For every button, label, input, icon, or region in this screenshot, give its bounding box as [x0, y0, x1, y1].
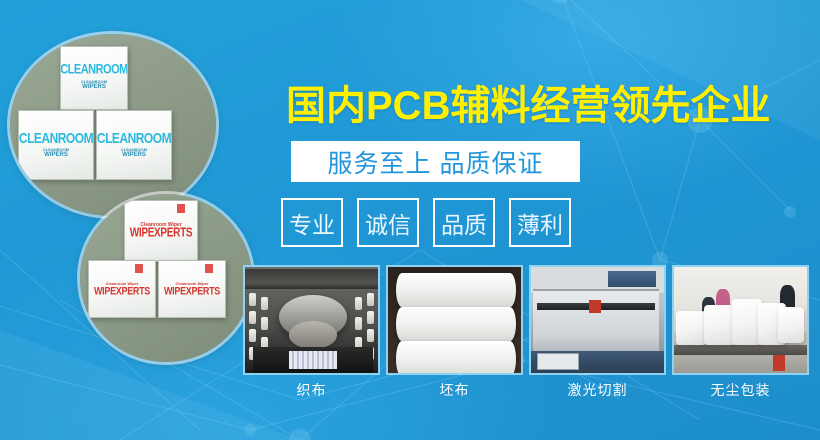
- keyword-box-integrity[interactable]: 诚信: [357, 198, 419, 247]
- pack-brand-label: WIPEXPERTS: [130, 228, 193, 241]
- keyword-label: 薄利: [517, 206, 563, 240]
- knitting-drum-inner: [289, 321, 337, 349]
- banner-subheadline-box: 服务至上 品质保证: [291, 141, 580, 182]
- photo-caption: 织布: [243, 380, 380, 400]
- fabric-roll: [396, 341, 516, 375]
- pack-subline-2: WIPERS: [82, 84, 106, 91]
- keyword-label: 专业: [289, 206, 335, 240]
- pack-brand-label: CLEANROOM: [97, 130, 171, 145]
- fabric-roll: [396, 307, 516, 341]
- pack-brand-label: WIPEXPERTS: [164, 286, 220, 297]
- packed-bale: [778, 307, 804, 343]
- packed-bale: [676, 311, 706, 345]
- product-photo-wipexperts: Cleanroom Wiper WIPEXPERTS Cleanroom Wip…: [80, 194, 252, 362]
- process-photo-item[interactable]: 织布: [243, 265, 380, 400]
- red-stamp-icon: [177, 204, 185, 213]
- keyword-box-professional[interactable]: 专业: [281, 198, 343, 247]
- red-stamp-icon: [205, 264, 213, 273]
- keyword-label: 品质: [441, 206, 487, 240]
- keyword-label: 诚信: [365, 206, 411, 240]
- keyword-box-list: 专业 诚信 品质 薄利: [281, 198, 571, 247]
- fabric-roll: [396, 273, 516, 307]
- pack-subline-2: WIPERS: [44, 152, 68, 159]
- photo-laser-cutting[interactable]: [529, 265, 666, 375]
- stacked-material: [608, 271, 656, 287]
- pack-brand-label: CLEANROOM: [60, 64, 128, 78]
- photo-caption: 坯布: [386, 380, 523, 400]
- process-photo-item[interactable]: 无尘包装: [672, 265, 809, 400]
- promo-banner: CLEANROOM CLEANROOM WIPERS CLEANROOM CLE…: [0, 0, 820, 440]
- knitted-fabric: [289, 351, 337, 369]
- banner-subheadline-text: 服务至上 品质保证: [328, 144, 544, 180]
- photo-caption: 激光切割: [529, 380, 666, 400]
- banner-headline: 国内PCB辅料经营领先企业: [286, 73, 770, 131]
- red-stamp-icon: [135, 264, 143, 273]
- pack-brand-label: WIPEXPERTS: [94, 286, 150, 297]
- work-table: [674, 345, 807, 355]
- photo-fabric-rolls[interactable]: [386, 265, 523, 375]
- control-panel: [537, 353, 579, 370]
- photo-cleanroom-packaging[interactable]: [672, 265, 809, 375]
- product-photo-cleanroom-wipes: CLEANROOM CLEANROOM WIPERS CLEANROOM CLE…: [10, 34, 216, 216]
- keyword-box-low-margin[interactable]: 薄利: [509, 198, 571, 247]
- process-photo-strip: 织布 坯布 激光切割: [243, 265, 809, 400]
- pack-subline-2: WIPERS: [122, 152, 146, 159]
- red-bin: [773, 355, 785, 371]
- pack-brand-label: CLEANROOM: [19, 130, 93, 145]
- photo-knitting-machine[interactable]: [243, 265, 380, 375]
- process-photo-item[interactable]: 激光切割: [529, 265, 666, 400]
- process-photo-item[interactable]: 坯布: [386, 265, 523, 400]
- laser-head-icon: [589, 300, 601, 313]
- keyword-box-quality[interactable]: 品质: [433, 198, 495, 247]
- photo-caption: 无尘包装: [672, 380, 809, 400]
